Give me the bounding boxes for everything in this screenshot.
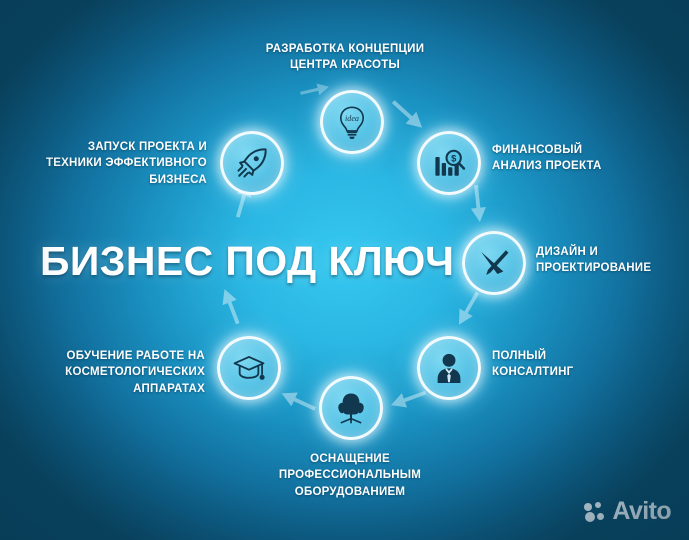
label-launch: ЗАПУСК ПРОЕКТА И ТЕХНИКИ ЭФФЕКТИВНОГО БИ… [32, 139, 207, 188]
svg-text:idea: idea [345, 114, 359, 123]
label-finance: ФИНАНСОВЫЙ АНАЛИЗ ПРОЕКТА [492, 142, 672, 175]
node-training[interactable] [217, 336, 281, 400]
bar-chart-magnifier-dollar-icon: $ [432, 146, 466, 180]
salon-chair-icon [334, 391, 368, 425]
arrow-finance-to-design [467, 184, 489, 224]
arrow-design-to-consult [451, 288, 486, 330]
arrow-consult-to-equipment [387, 384, 429, 414]
node-launch[interactable] [220, 131, 284, 195]
node-concept[interactable]: idea [320, 90, 384, 154]
avito-dots-logo [584, 502, 606, 522]
avito-wordmark: Avito [612, 497, 671, 526]
lightbulb-idea-icon: idea [335, 105, 369, 139]
page-title: БИЗНЕС ПОД КЛЮЧ [40, 238, 454, 285]
arrow-equipment-to-training [277, 385, 319, 417]
label-consult: ПОЛНЫЙ КОНСАЛТИНГ [492, 348, 642, 381]
node-equipment[interactable] [319, 376, 383, 440]
label-equipment: ОСНАЩЕНИЕ ПРОФЕССИОНАЛЬНЫМ ОБОРУДОВАНИЕМ [245, 451, 455, 500]
label-concept: РАЗРАБОТКА КОНЦЕПЦИИ ЦЕНТРА КРАСОТЫ [236, 41, 454, 74]
businessman-icon [432, 351, 466, 385]
poster-canvas: БИЗНЕС ПОД КЛЮЧ idea РАЗРАБОТКА КОНЦЕПЦИ… [0, 0, 689, 540]
rocket-icon [235, 146, 269, 180]
label-design: ДИЗАЙН И ПРОЕКТИРОВАНИЕ [536, 244, 686, 277]
graduation-cap-icon [232, 351, 266, 385]
node-design[interactable] [462, 231, 526, 295]
node-consult[interactable] [417, 336, 481, 400]
node-finance[interactable]: $ [417, 131, 481, 195]
label-training: ОБУЧЕНИЕ РАБОТЕ НА КОСМЕТОЛОГИЧЕСКИХ АПП… [47, 348, 205, 397]
svg-text:$: $ [451, 153, 457, 163]
avito-watermark: Avito [584, 497, 671, 526]
pen-ruler-icon [477, 246, 511, 280]
arrow-training-to-launch [216, 285, 246, 327]
arrow-concept-to-finance [387, 95, 429, 135]
arrow-into-concept [299, 79, 332, 101]
